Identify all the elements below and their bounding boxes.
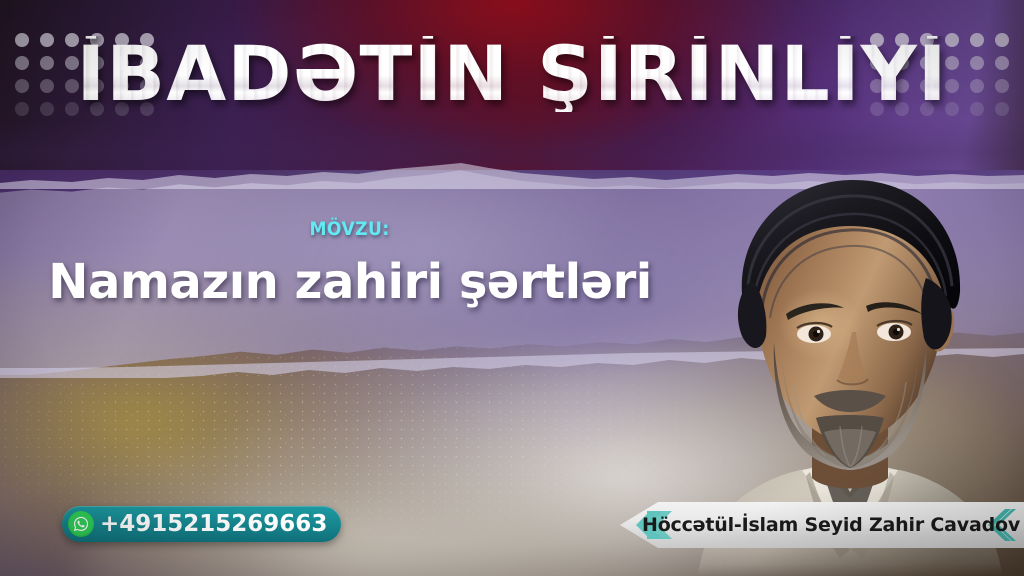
subject-title: Namazın zahiri şərtləri	[0, 256, 700, 309]
lecture-poster: İBADƏTİN ŞİRİNLİYİ MÖVZU: Namazın zahiri…	[0, 0, 1024, 576]
subject-label-row: MÖVZU:	[0, 218, 700, 240]
program-title: İBADƏTİN ŞİRİNLİYİ	[0, 36, 1024, 112]
subject-block: MÖVZU: Namazın zahiri şərtləri	[0, 218, 700, 309]
whatsapp-contact-pill[interactable]: +4915215269663	[62, 506, 341, 542]
speaker-name: Höccətül-İslam Seyid Zahir Cavadov	[684, 502, 978, 548]
subject-label: MÖVZU:	[310, 218, 390, 240]
whatsapp-icon	[68, 511, 94, 537]
speaker-name-banner: Höccətül-İslam Seyid Zahir Cavadov	[620, 502, 1024, 548]
whatsapp-phone-number: +4915215269663	[100, 513, 327, 536]
